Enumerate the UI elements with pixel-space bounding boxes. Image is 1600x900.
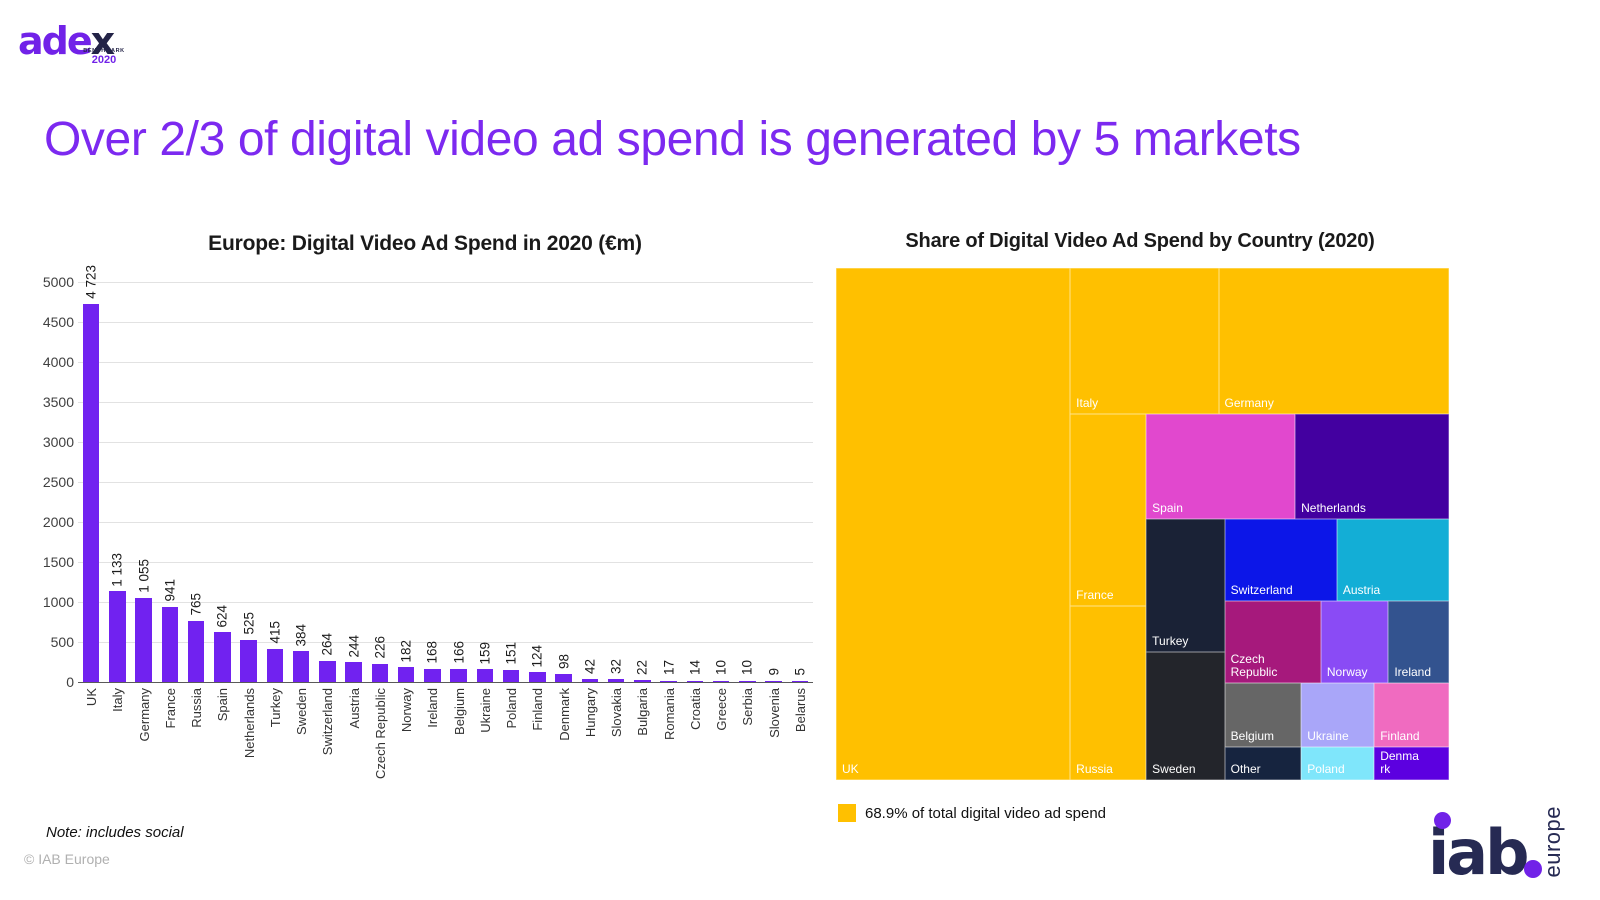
treemap-tile-label: Switzerland xyxy=(1231,584,1293,597)
treemap-chart: UKItalyGermanyFranceRussiaSpainNetherlan… xyxy=(836,268,1449,780)
x-axis-category-label: Finland xyxy=(530,688,545,731)
bar-column[interactable]: 151 xyxy=(503,282,519,682)
bar-chart-plot-area: 4 7231 1331 0559417656245254153842642442… xyxy=(78,282,813,682)
bar-value-label: 624 xyxy=(215,605,230,628)
treemap-tile[interactable]: Ireland xyxy=(1388,601,1449,683)
bar-column[interactable]: 166 xyxy=(450,282,466,682)
treemap-tile[interactable]: UK xyxy=(836,268,1070,780)
treemap-tile[interactable]: Belgium xyxy=(1225,683,1302,748)
bar[interactable] xyxy=(398,667,414,682)
y-axis-tick-label: 0 xyxy=(66,674,74,690)
bar-column[interactable]: 42 xyxy=(582,282,598,682)
x-axis-category-label: Czech Republic xyxy=(373,688,388,779)
bar-value-label: 1 055 xyxy=(136,559,151,593)
bar-chart-x-axis-labels: UKItalyGermanyFranceRussiaSpainNetherlan… xyxy=(78,688,813,798)
x-axis-category-label: Italy xyxy=(110,688,125,712)
bar[interactable] xyxy=(188,621,204,682)
bar-column[interactable]: 168 xyxy=(424,282,440,682)
bar-column[interactable]: 264 xyxy=(319,282,335,682)
y-axis-tick-label: 1500 xyxy=(43,554,74,570)
x-axis-category-label: Netherlands xyxy=(242,688,257,758)
adex-year-label: 2020 xyxy=(80,54,128,66)
y-axis-tick-label: 4500 xyxy=(43,314,74,330)
bar-column[interactable]: 1 055 xyxy=(135,282,151,682)
treemap-tile[interactable]: Turkey xyxy=(1146,519,1224,652)
x-axis-category-label: Romania xyxy=(662,688,677,740)
bar[interactable] xyxy=(162,607,178,682)
bar-value-label: 226 xyxy=(372,636,387,659)
iab-europe-suffix: europe xyxy=(1540,806,1566,878)
bar-column[interactable]: 244 xyxy=(345,282,361,682)
bar[interactable] xyxy=(135,598,151,682)
bar-column[interactable]: 10 xyxy=(739,282,755,682)
treemap-tile-label: Sweden xyxy=(1152,763,1195,776)
treemap-tile-label: Spain xyxy=(1152,502,1183,515)
copyright-text: © IAB Europe xyxy=(24,851,110,867)
bar-column[interactable]: 17 xyxy=(660,282,676,682)
bar[interactable] xyxy=(83,304,99,682)
bar-value-label: 17 xyxy=(661,660,676,675)
treemap-tile-label: Belgium xyxy=(1231,730,1274,743)
x-axis-category-label: Belarus xyxy=(793,688,808,732)
bar-column[interactable]: 14 xyxy=(687,282,703,682)
bar-value-label: 10 xyxy=(714,660,729,675)
bar-column[interactable]: 9 xyxy=(765,282,781,682)
slide-root: adex BENCHMARK 2020 Over 2/3 of digital … xyxy=(0,0,1600,900)
bar-column[interactable]: 10 xyxy=(713,282,729,682)
bar[interactable] xyxy=(214,632,230,682)
bar-column[interactable]: 22 xyxy=(634,282,650,682)
x-axis-category-label: Ireland xyxy=(425,688,440,728)
treemap-tile[interactable]: Czech Republic xyxy=(1225,601,1321,683)
y-axis-tick-label: 2500 xyxy=(43,474,74,490)
iab-wordmark: iab xyxy=(1428,824,1526,882)
bar[interactable] xyxy=(345,662,361,682)
bar[interactable] xyxy=(450,669,466,682)
x-axis-category-label: Germany xyxy=(137,688,152,741)
x-axis-category-label: Slovakia xyxy=(609,688,624,737)
treemap-legend: 68.9% of total digital video ad spend xyxy=(838,804,1106,822)
bar-chart-bars: 4 7231 1331 0559417656245254153842642442… xyxy=(78,282,813,682)
x-axis-category-label: Bulgaria xyxy=(635,688,650,736)
y-axis-tick-label: 3500 xyxy=(43,394,74,410)
treemap-tile[interactable]: Germany xyxy=(1219,268,1449,414)
x-axis-category-label: Ukraine xyxy=(478,688,493,733)
bar-value-label: 4 723 xyxy=(84,265,99,299)
bar-column[interactable]: 159 xyxy=(477,282,493,682)
bar-column[interactable]: 1 133 xyxy=(109,282,125,682)
treemap-tile-label: France xyxy=(1076,589,1113,602)
bar-column[interactable]: 182 xyxy=(398,282,414,682)
treemap-tile[interactable]: Poland xyxy=(1301,747,1374,780)
treemap-tile-label: Ireland xyxy=(1394,666,1431,679)
x-axis-category-label: Poland xyxy=(504,688,519,728)
x-axis-category-label: Belgium xyxy=(452,688,467,735)
treemap-tile[interactable]: Sweden xyxy=(1146,652,1224,780)
x-axis-category-label: Serbia xyxy=(740,688,755,726)
bar-value-label: 765 xyxy=(189,593,204,616)
bar[interactable] xyxy=(240,640,256,682)
treemap-tile[interactable]: Italy xyxy=(1070,268,1218,414)
x-axis-category-label: France xyxy=(163,688,178,728)
y-axis-tick-label: 500 xyxy=(51,634,74,650)
bar-column[interactable]: 4 723 xyxy=(83,282,99,682)
bar-column[interactable]: 5 xyxy=(792,282,808,682)
bar-value-label: 941 xyxy=(162,579,177,602)
bar-value-label: 22 xyxy=(635,660,650,675)
bar-value-label: 182 xyxy=(399,640,414,663)
treemap-tile-label: Italy xyxy=(1076,397,1098,410)
bar-value-label: 14 xyxy=(687,660,702,675)
x-axis-category-label: Denmark xyxy=(557,688,572,741)
bar-value-label: 124 xyxy=(530,645,545,668)
bar[interactable] xyxy=(293,651,309,682)
treemap-tile-label: Czech Republic xyxy=(1231,653,1278,679)
y-axis-tick-label: 1000 xyxy=(43,594,74,610)
x-axis-category-label: Spain xyxy=(215,688,230,721)
bar-column[interactable]: 384 xyxy=(293,282,309,682)
bar-value-label: 5 xyxy=(792,668,807,676)
bar[interactable] xyxy=(109,591,125,682)
bar[interactable] xyxy=(477,669,493,682)
chart-note: Note: includes social xyxy=(46,824,184,841)
x-axis-category-label: Switzerland xyxy=(320,688,335,755)
bar-column[interactable]: 98 xyxy=(555,282,571,682)
treemap-tile-label: Poland xyxy=(1307,763,1344,776)
bar[interactable] xyxy=(319,661,335,682)
bar[interactable] xyxy=(529,672,545,682)
bar-value-label: 151 xyxy=(504,642,519,665)
bar-value-label: 159 xyxy=(477,642,492,665)
x-axis-category-label: Hungary xyxy=(583,688,598,737)
bar-chart-y-axis: 0500100015002000250030003500400045005000 xyxy=(22,276,74,688)
bar-column[interactable]: 765 xyxy=(188,282,204,682)
page-title: Over 2/3 of digital video ad spend is ge… xyxy=(44,112,1301,167)
bar[interactable] xyxy=(267,649,283,682)
x-axis-category-label: Turkey xyxy=(268,688,283,727)
bar[interactable] xyxy=(424,669,440,682)
bar-value-label: 166 xyxy=(451,641,466,664)
treemap-tile-label: Denma rk xyxy=(1380,750,1419,776)
bar-value-label: 9 xyxy=(766,668,781,676)
x-axis-category-label: UK xyxy=(84,688,99,706)
treemap-tile[interactable]: Finland xyxy=(1374,683,1449,748)
bar-value-label: 32 xyxy=(609,659,624,674)
treemap-tile[interactable]: Spain xyxy=(1146,414,1295,519)
bar-value-label: 264 xyxy=(320,633,335,656)
bar-value-label: 1 133 xyxy=(110,553,125,587)
y-axis-tick-label: 3000 xyxy=(43,434,74,450)
bar-column[interactable]: 525 xyxy=(240,282,256,682)
bar-column[interactable]: 226 xyxy=(372,282,388,682)
bar[interactable] xyxy=(503,670,519,682)
x-axis-category-label: Croatia xyxy=(688,688,703,730)
bar-value-label: 168 xyxy=(425,641,440,664)
bar-value-label: 10 xyxy=(740,660,755,675)
treemap-tile[interactable]: Norway xyxy=(1321,601,1388,683)
treemap-tile-label: Finland xyxy=(1380,730,1419,743)
bar-value-label: 244 xyxy=(346,635,361,658)
bar-column[interactable]: 941 xyxy=(162,282,178,682)
adex-sublabel: BENCHMARK 2020 xyxy=(80,48,128,66)
treemap-tile-label: Netherlands xyxy=(1301,502,1366,515)
treemap-tile[interactable]: Other xyxy=(1225,747,1302,780)
treemap-tile-label: Germany xyxy=(1225,397,1274,410)
bar-value-label: 98 xyxy=(556,654,571,669)
treemap-tile-label: Austria xyxy=(1343,584,1380,597)
x-axis-category-label: Slovenia xyxy=(767,688,782,738)
bar-chart-axis-line xyxy=(78,682,813,684)
treemap-tile-label: Turkey xyxy=(1152,635,1188,648)
treemap-tile[interactable]: Ukraine xyxy=(1301,683,1374,748)
adex-logo: adex BENCHMARK 2020 xyxy=(18,22,128,68)
iab-europe-logo: iab europe xyxy=(1428,800,1578,884)
treemap-tile-label: Ukraine xyxy=(1307,730,1348,743)
bar-value-label: 42 xyxy=(582,659,597,674)
treemap-tile-label: Other xyxy=(1231,763,1261,776)
bar-value-label: 415 xyxy=(267,621,282,644)
x-axis-category-label: Norway xyxy=(399,688,414,732)
bar-value-label: 384 xyxy=(294,624,309,647)
iab-i-dot-icon xyxy=(1434,812,1451,829)
x-axis-category-label: Russia xyxy=(189,688,204,728)
y-axis-tick-label: 5000 xyxy=(43,274,74,290)
bar[interactable] xyxy=(372,664,388,682)
legend-color-swatch xyxy=(838,804,856,822)
y-axis-tick-label: 2000 xyxy=(43,514,74,530)
treemap-tile[interactable]: Russia xyxy=(1070,606,1146,780)
x-axis-category-label: Austria xyxy=(347,688,362,728)
treemap-tile[interactable]: Netherlands xyxy=(1295,414,1449,519)
treemap-tile-label: UK xyxy=(842,763,859,776)
bar-column[interactable]: 624 xyxy=(214,282,230,682)
y-axis-tick-label: 4000 xyxy=(43,354,74,370)
treemap-tile-label: Russia xyxy=(1076,763,1113,776)
treemap-tile[interactable]: France xyxy=(1070,414,1146,606)
treemap-title: Share of Digital Video Ad Spend by Count… xyxy=(830,230,1450,253)
treemap-tile[interactable]: Switzerland xyxy=(1225,519,1337,601)
legend-label: 68.9% of total digital video ad spend xyxy=(865,805,1106,822)
treemap-tile[interactable]: Austria xyxy=(1337,519,1449,601)
treemap-tile[interactable]: Denma rk xyxy=(1374,747,1449,780)
bar-chart-title: Europe: Digital Video Ad Spend in 2020 (… xyxy=(30,232,820,256)
bar-column[interactable]: 124 xyxy=(529,282,545,682)
bar-value-label: 525 xyxy=(241,612,256,635)
treemap-tile-label: Norway xyxy=(1327,666,1368,679)
bar-column[interactable]: 415 xyxy=(267,282,283,682)
bar-column[interactable]: 32 xyxy=(608,282,624,682)
x-axis-category-label: Greece xyxy=(714,688,729,731)
x-axis-category-label: Sweden xyxy=(294,688,309,735)
